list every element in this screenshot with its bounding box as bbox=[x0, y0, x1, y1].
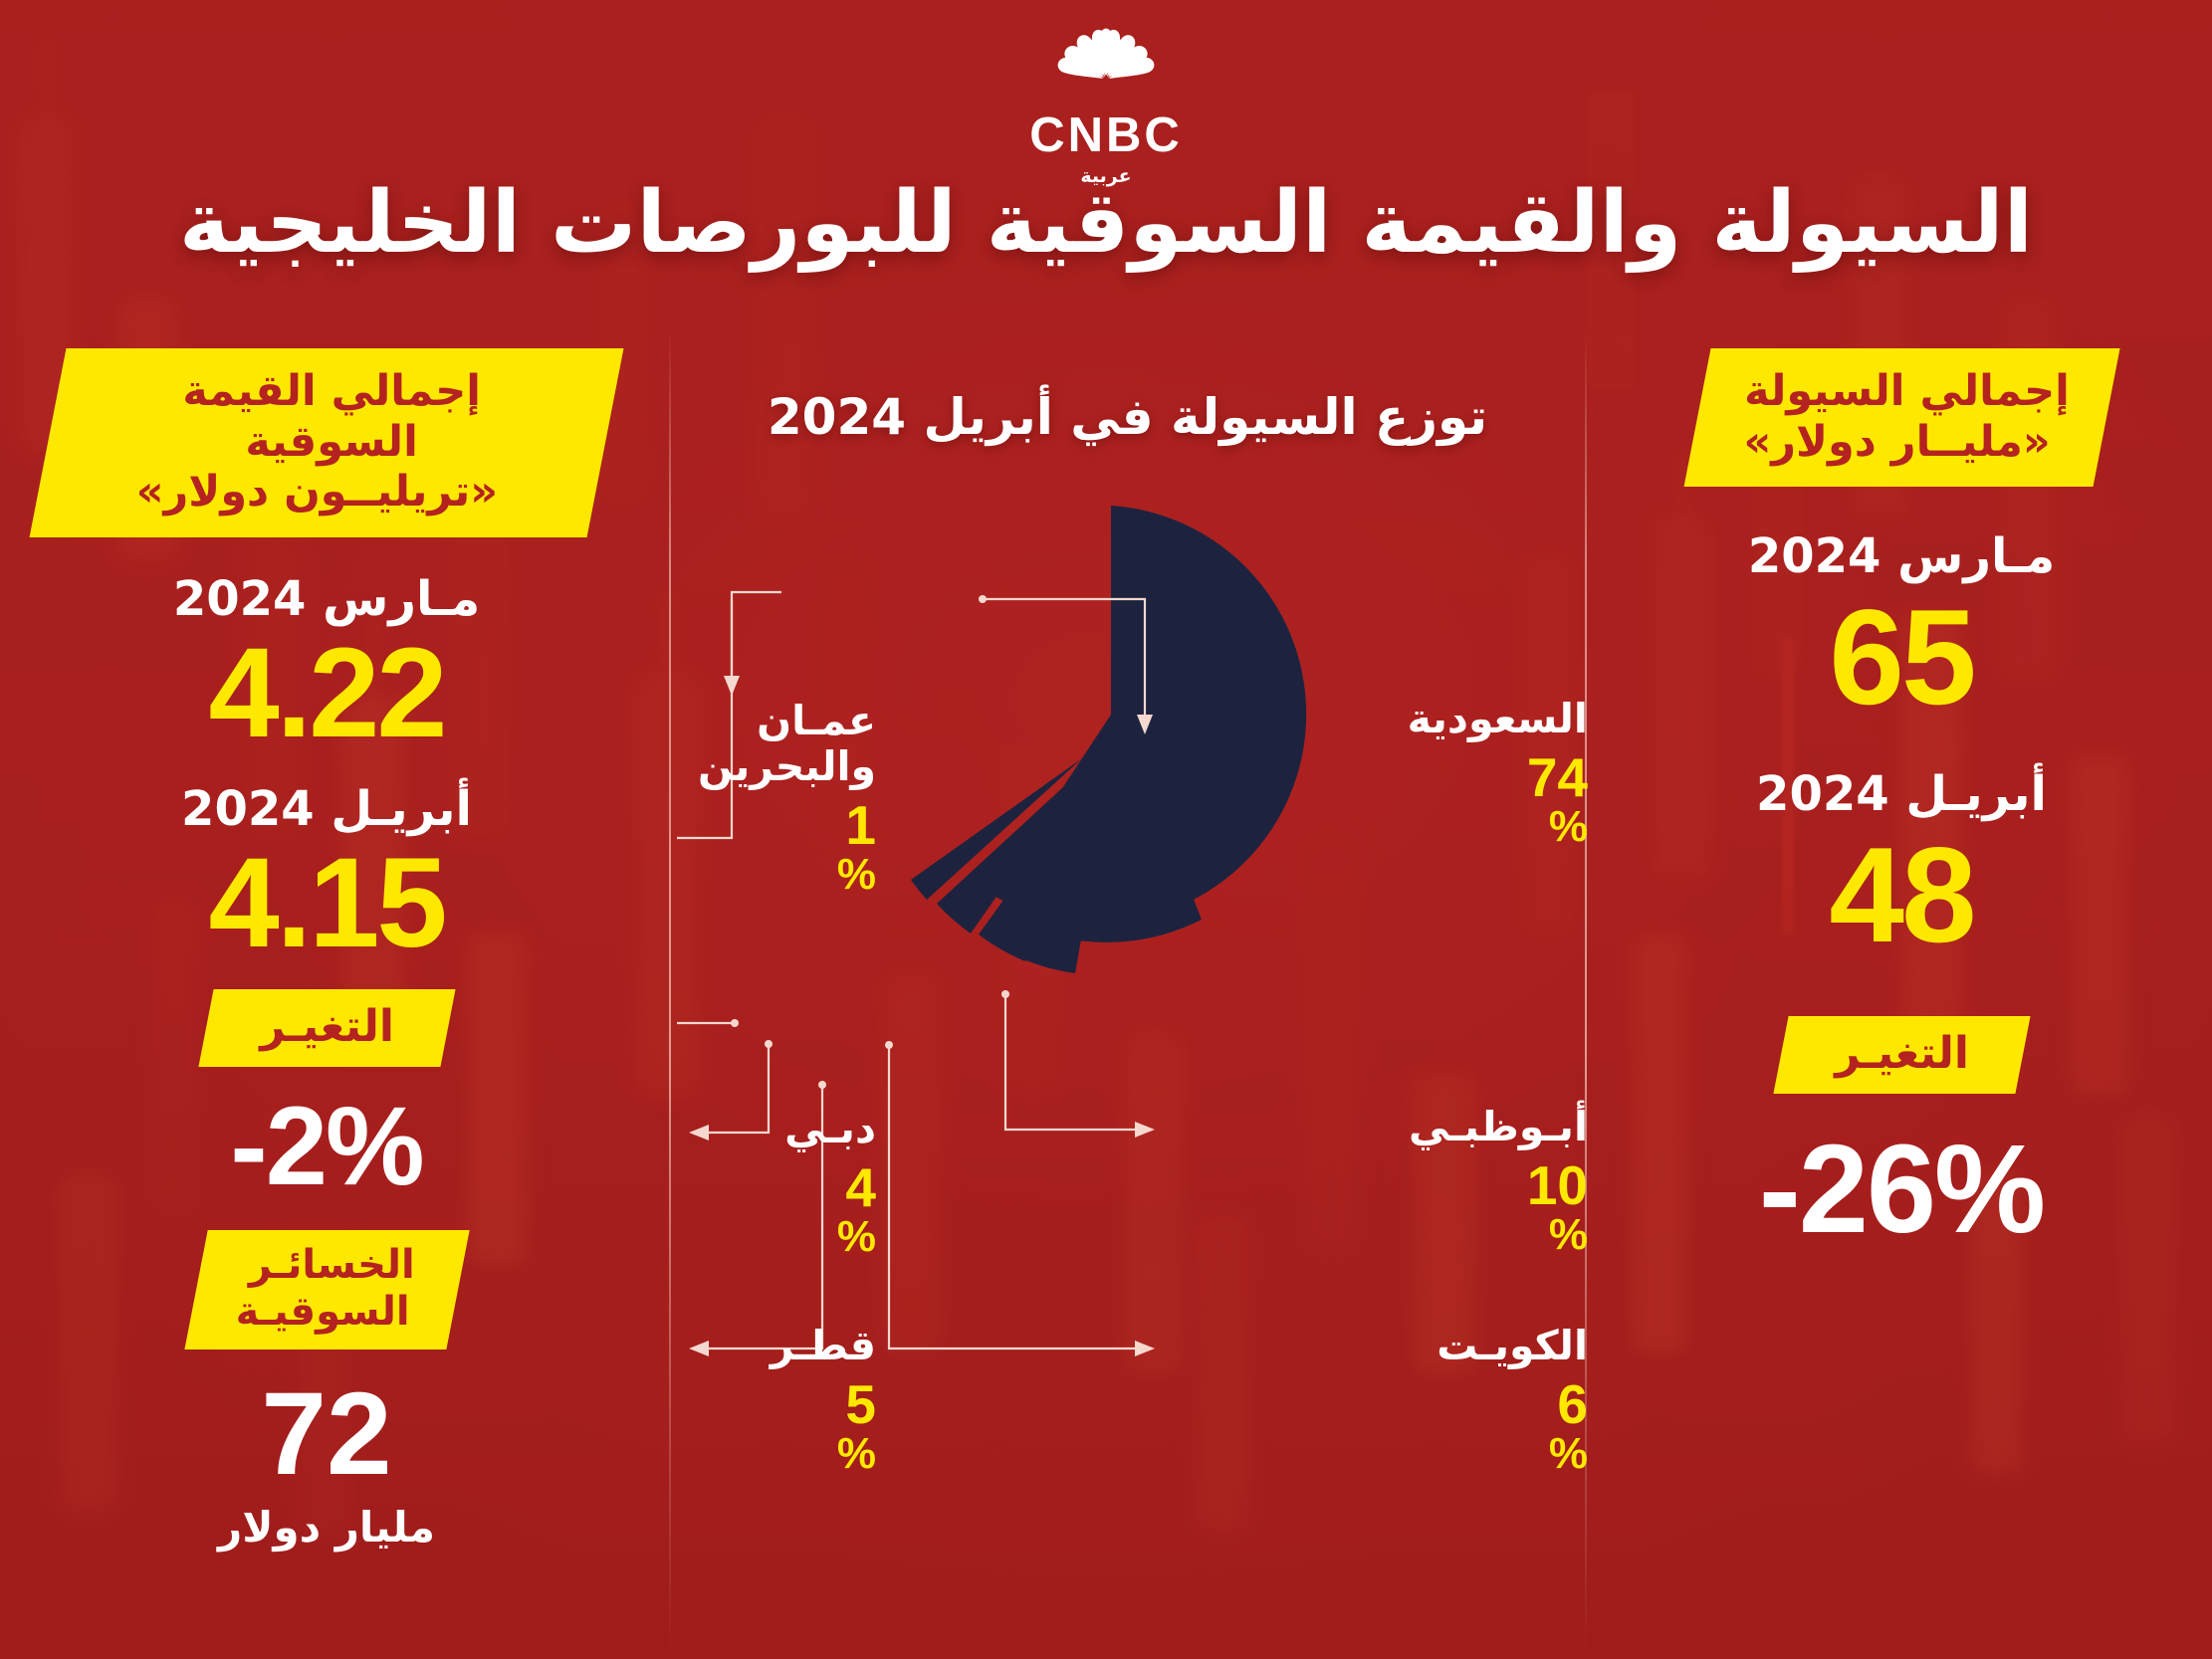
cnbc-wordmark: CNBC bbox=[1029, 111, 1183, 160]
liquidity-change-banner: التغيـر bbox=[1773, 1016, 2030, 1094]
pie-label-saudi-value: 74 bbox=[1329, 750, 1588, 805]
pie-label-qatar-name: قطـر bbox=[657, 1324, 876, 1369]
liquidity-banner-line2: «مليــار دولار» bbox=[1734, 417, 2060, 468]
pie-chart bbox=[869, 478, 1387, 1035]
pie-label-saudi-symbol: % bbox=[1329, 805, 1588, 849]
pie-label-saudi-name: السعودية bbox=[1329, 697, 1588, 742]
cnbc-peacock-icon bbox=[1042, 24, 1170, 109]
market-cap-banner-line2: «تريليــون دولار» bbox=[86, 467, 548, 518]
leader-oman-arrow bbox=[724, 676, 740, 696]
market-cap-change-banner: التغيـر bbox=[198, 989, 455, 1067]
market-cap-period2-label: أبريـل 2024 bbox=[181, 781, 472, 837]
pie-label-oman-bahrain-symbol: % bbox=[657, 853, 876, 897]
liquidity-column: إجمالي السيولة «مليــار دولار» مـارس 202… bbox=[1623, 348, 2180, 1252]
cnbc-logo: CNBC عربية bbox=[0, 24, 2212, 187]
pie-label-qatar-symbol: % bbox=[657, 1432, 876, 1476]
pie-label-abudhabi: أبـوظبـي 10 % bbox=[1329, 1105, 1588, 1257]
market-cap-period1-value: 4.22 bbox=[208, 633, 444, 755]
leader-oman-down bbox=[732, 592, 781, 678]
market-cap-banner: إجمالي القيمة السوقية «تريليــون دولار» bbox=[30, 348, 624, 537]
pie-label-oman-bahrain: عمـان والبحرين 1 % bbox=[657, 699, 876, 897]
pie-label-saudi: السعودية 74 % bbox=[1329, 697, 1588, 849]
leader-abudhabi-arrow bbox=[1135, 1122, 1155, 1138]
leader-oman-arrow-group bbox=[672, 582, 801, 712]
market-loss-value: 72 bbox=[261, 1375, 391, 1493]
market-cap-change-value: -2% bbox=[230, 1091, 422, 1202]
leader-kuwait-arrow bbox=[1135, 1341, 1155, 1356]
pie-label-kuwait: الكويـت 6 % bbox=[1329, 1324, 1588, 1476]
pie-label-kuwait-value: 6 bbox=[1329, 1377, 1588, 1432]
leader-kuwait bbox=[889, 1045, 1137, 1348]
liquidity-distribution-chart: توزع السيولة في أبريل 2024 bbox=[677, 388, 1578, 1652]
market-cap-period2-value: 4.15 bbox=[208, 843, 444, 965]
market-cap-column: إجمالي القيمة السوقية «تريليــون دولار» … bbox=[48, 348, 605, 1552]
pie-label-qatar-value: 5 bbox=[657, 1377, 876, 1432]
market-cap-banner-line1: إجمالي القيمة السوقية bbox=[101, 366, 562, 467]
pie-label-kuwait-name: الكويـت bbox=[1329, 1324, 1588, 1369]
pie-label-qatar: قطـر 5 % bbox=[657, 1324, 876, 1476]
infographic-canvas: CNBC عربية السيولة والقيمة السوقية للبور… bbox=[0, 0, 2212, 1659]
pie-label-kuwait-symbol: % bbox=[1329, 1432, 1588, 1476]
liquidity-change-value: -26% bbox=[1759, 1127, 2044, 1252]
liquidity-change-banner-label: التغيـر bbox=[1835, 1028, 1969, 1080]
pie-label-abudhabi-name: أبـوظبـي bbox=[1329, 1105, 1588, 1150]
market-loss-banner-line1: الخسائـر bbox=[244, 1242, 418, 1289]
liquidity-period2-value: 48 bbox=[1829, 830, 1973, 960]
pie-label-dubai-value: 4 bbox=[657, 1160, 876, 1215]
liquidity-banner-line1: إجمالي السيولة bbox=[1744, 366, 2070, 417]
market-loss-banner-line2: السوقيـة bbox=[235, 1289, 409, 1336]
market-cap-change-banner-label: التغيـر bbox=[260, 1001, 394, 1053]
pie-label-dubai: دبـي 4 % bbox=[657, 1107, 876, 1259]
liquidity-period1-value: 65 bbox=[1829, 592, 1973, 723]
market-loss-unit: مليار دولار bbox=[218, 1503, 435, 1552]
page-title: السيولة والقيمة السوقية للبورصات الخليجي… bbox=[0, 177, 2212, 270]
chart-title: توزع السيولة في أبريل 2024 bbox=[677, 388, 1578, 446]
market-cap-period1-label: مـارس 2024 bbox=[173, 571, 480, 627]
pie-label-oman-bahrain-value: 1 bbox=[657, 798, 876, 853]
liquidity-banner: إجمالي السيولة «مليــار دولار» bbox=[1683, 348, 2119, 487]
pie-label-dubai-symbol: % bbox=[657, 1215, 876, 1259]
liquidity-period1-label: مـارس 2024 bbox=[1748, 528, 2055, 584]
liquidity-period2-label: أبريـل 2024 bbox=[1756, 766, 2047, 822]
market-loss-banner: الخسائـر السوقيـة bbox=[184, 1230, 469, 1349]
pie-label-oman-bahrain-name: عمـان والبحرين bbox=[657, 699, 876, 790]
pie-label-abudhabi-value: 10 bbox=[1329, 1158, 1588, 1213]
pie-label-abudhabi-symbol: % bbox=[1329, 1213, 1588, 1257]
pie-label-dubai-name: دبـي bbox=[657, 1107, 876, 1152]
